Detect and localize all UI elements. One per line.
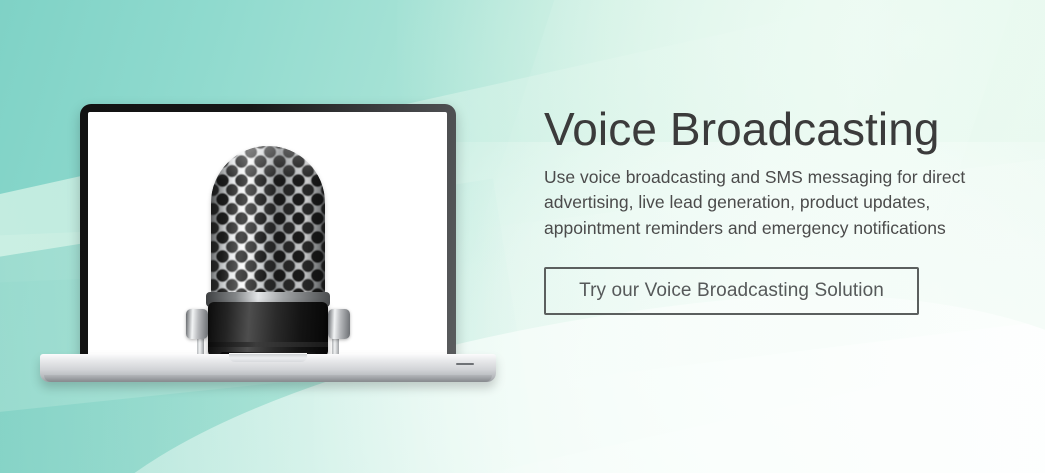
voice-broadcasting-hero-banner: Voice Broadcasting Use voice broadcastin…: [0, 0, 1045, 473]
page-title: Voice Broadcasting: [544, 104, 1014, 156]
microphone-knob-left: [186, 309, 208, 339]
microphone-body-ring: [208, 342, 328, 347]
try-voice-broadcasting-solution-button[interactable]: Try our Voice Broadcasting Solution: [544, 267, 919, 315]
microphone-body: [208, 302, 328, 356]
laptop-illustration: [40, 104, 496, 384]
microphone-icon: [184, 146, 352, 356]
hero-description: Use voice broadcasting and SMS messaging…: [544, 165, 996, 242]
laptop-base: [40, 354, 496, 382]
laptop-port-slot: [456, 363, 474, 365]
laptop-screen: [88, 112, 447, 356]
laptop-lid: [80, 104, 456, 362]
laptop-trackpad-notch: [229, 353, 307, 362]
hero-content: Voice Broadcasting Use voice broadcastin…: [544, 104, 1014, 315]
microphone-grille: [211, 146, 325, 298]
microphone-grille-holes-row-b: [211, 146, 325, 298]
microphone-knob-right: [328, 309, 350, 339]
